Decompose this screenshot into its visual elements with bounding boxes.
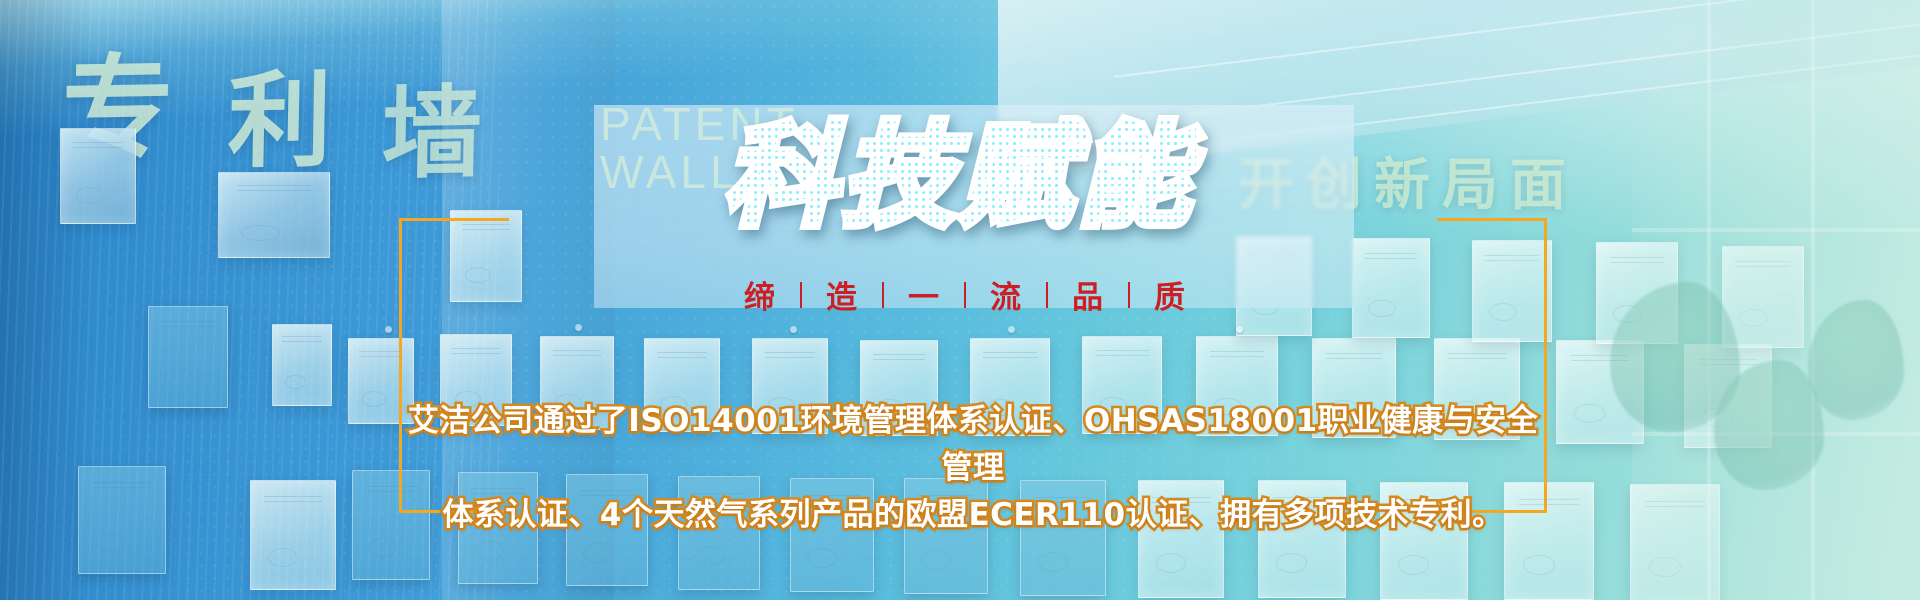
wall-nail bbox=[1236, 326, 1243, 333]
slogan-row: 缔 造 一 流 品 质 bbox=[720, 272, 1210, 317]
slogan-char-4: 流 bbox=[966, 272, 1046, 317]
wall-certificate bbox=[1352, 238, 1430, 338]
wall-certificate bbox=[148, 306, 228, 408]
slogan-char-3: 一 bbox=[884, 272, 964, 317]
wall-certificate bbox=[1472, 240, 1552, 342]
wall-nail bbox=[385, 326, 392, 333]
wall-photo-frame bbox=[218, 172, 330, 258]
main-title: 科技赋能 bbox=[724, 112, 1196, 242]
wall-nail bbox=[790, 326, 797, 333]
wall-certificate bbox=[250, 480, 336, 590]
slogan-char-5: 品 bbox=[1048, 272, 1128, 317]
slogan-char-2: 造 bbox=[802, 272, 882, 317]
wall-nail bbox=[575, 324, 582, 331]
wall-certificate bbox=[272, 324, 332, 406]
wall-certificate bbox=[450, 210, 522, 302]
wall-character-li: 利 bbox=[227, 35, 334, 188]
body-paragraph: 艾洁公司通过了ISO14001环境管理体系认证、OHSAS18001职业健康与安… bbox=[399, 398, 1547, 539]
wall-photo-frame bbox=[60, 128, 136, 224]
slogan-char-1: 缔 bbox=[720, 272, 800, 317]
wall-character-qiang: 墙 bbox=[381, 51, 484, 198]
window-mullion bbox=[1811, 0, 1815, 600]
wall-certificate bbox=[78, 466, 166, 574]
slogan-char-6: 质 bbox=[1130, 272, 1210, 317]
patent-wall-banner: 专 利 墙 开创新局面 bbox=[0, 0, 1920, 600]
wall-nail bbox=[1008, 326, 1015, 333]
window-transom bbox=[1632, 228, 1920, 232]
